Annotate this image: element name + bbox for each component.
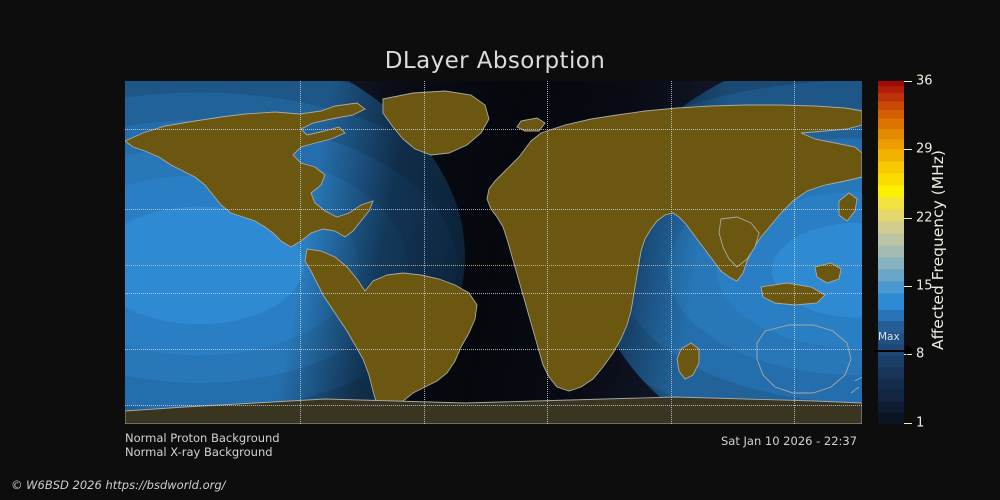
gridline-lon-2 xyxy=(424,81,425,424)
proton-background-note: Normal Proton Background xyxy=(125,431,280,445)
gridline-lon-4 xyxy=(671,81,672,424)
colorbar-axis-title: Affected Frequency (MHz) xyxy=(929,75,949,425)
colorbar-label-1: 1 xyxy=(916,417,924,430)
gridline-lat-30n xyxy=(125,209,862,210)
world-map-panel[interactable] xyxy=(125,81,862,424)
colorbar-tick-36 xyxy=(904,81,912,82)
xray-background-note: Normal X-ray Background xyxy=(125,445,273,459)
page-title: DLayer Absorption xyxy=(0,48,990,74)
max-arrow-head-icon xyxy=(906,345,915,355)
gridline-lat-30s xyxy=(125,293,862,294)
dlayer-absorption-map-figure: DLayer Absorption xyxy=(0,0,1000,500)
graticule-layer xyxy=(125,81,862,424)
gridline-lat-60n xyxy=(125,129,862,130)
gridline-lon-1 xyxy=(300,81,301,424)
copyright-label: © W6BSD 2026 https://bsdworld.org/ xyxy=(11,478,226,492)
colorbar-tick-29 xyxy=(904,149,912,150)
gridline-lon-5 xyxy=(794,81,795,424)
timestamp-label: Sat Jan 10 2026 - 22:37 xyxy=(721,434,857,448)
gridline-lon-3 xyxy=(547,81,548,424)
colorbar-gradient[interactable] xyxy=(878,81,904,424)
max-arrow-shaft xyxy=(874,350,908,352)
colorbar-tick-1 xyxy=(904,423,912,424)
gridline-lat-45s xyxy=(125,349,862,350)
colorbar-label-8: 8 xyxy=(916,348,924,361)
max-marker-label: Max xyxy=(878,332,900,343)
gridline-lat-60s xyxy=(125,405,862,406)
gridline-equator xyxy=(125,265,862,266)
colorbar-tick-22 xyxy=(904,218,912,219)
colorbar-tick-15 xyxy=(904,286,912,287)
